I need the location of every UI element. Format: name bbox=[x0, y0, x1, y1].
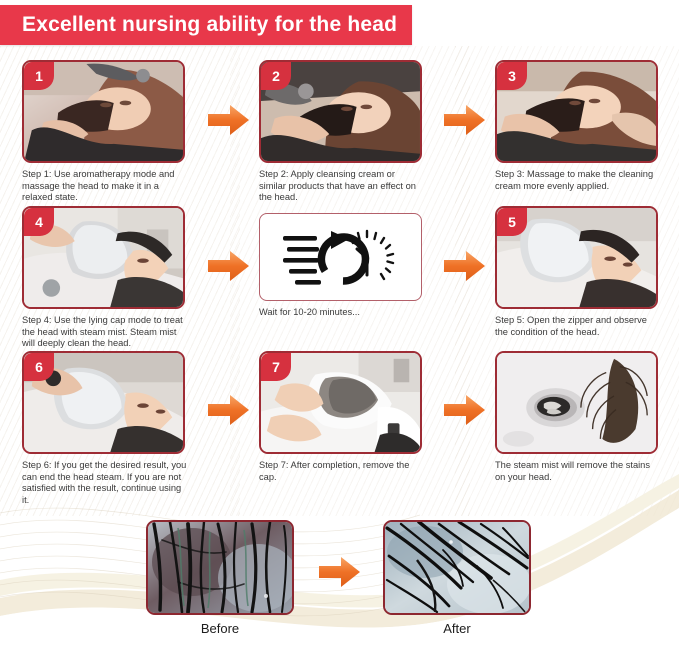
step-photo-1[interactable]: 1 bbox=[22, 60, 185, 163]
before-photo[interactable] bbox=[146, 520, 294, 615]
step-badge-5: 5 bbox=[497, 208, 527, 236]
step-caption-2: Step 2: Apply cleansing cream or similar… bbox=[259, 169, 424, 204]
result-photo[interactable] bbox=[495, 351, 658, 454]
step-caption-1: Step 1: Use aromatherapy mode and massag… bbox=[22, 169, 187, 204]
after-label: After bbox=[383, 621, 531, 636]
step-badge-2: 2 bbox=[261, 62, 291, 90]
flow-arrow-2 bbox=[442, 103, 486, 137]
step-badge-6: 6 bbox=[24, 353, 54, 381]
step-card-6: 6 Step 6: If you get the desired result,… bbox=[22, 351, 185, 506]
step-photo-4[interactable]: 4 bbox=[22, 206, 185, 309]
flow-arrow-1 bbox=[206, 103, 250, 137]
step-card-7: 7 Step 7: After completion, remove the c… bbox=[259, 351, 422, 483]
fast-clock-icon bbox=[283, 225, 399, 289]
step-photo-7[interactable]: 7 bbox=[259, 351, 422, 454]
photo-illustration-result bbox=[497, 353, 656, 453]
flow-arrow-3 bbox=[206, 249, 250, 283]
step-caption-4: Step 4: Use the lying cap mode to treat … bbox=[22, 315, 187, 350]
step-card-4: 4 Step 4: Use the lying cap mode to trea… bbox=[22, 206, 185, 350]
step-card-1: 1 Step 1: Use aromatherapy mode and mass… bbox=[22, 60, 185, 204]
timer-card: Wait for 10-20 minutes... bbox=[259, 213, 422, 319]
step-badge-3: 3 bbox=[497, 62, 527, 90]
scalp-microscope-after-illustration bbox=[385, 522, 529, 613]
scalp-microscope-before-illustration bbox=[148, 522, 292, 613]
step-caption-5: Step 5: Open the zipper and observe the … bbox=[495, 315, 660, 338]
before-label: Before bbox=[146, 621, 294, 636]
step-photo-2[interactable]: 2 bbox=[259, 60, 422, 163]
flow-arrow-4 bbox=[442, 249, 486, 283]
result-card: The steam mist will remove the stains on… bbox=[495, 351, 658, 483]
timer-box bbox=[259, 213, 422, 301]
step-badge-4: 4 bbox=[24, 208, 54, 236]
step-card-3: 3 Step 3: Massage to make the cleaning c… bbox=[495, 60, 658, 192]
before-after-arrow bbox=[317, 555, 361, 589]
step-card-5: 5 Step 5: Open the zipper and observe th… bbox=[495, 206, 658, 338]
result-caption: The steam mist will remove the stains on… bbox=[495, 460, 660, 483]
flow-arrow-5 bbox=[206, 393, 250, 427]
step-photo-3[interactable]: 3 bbox=[495, 60, 658, 163]
after-photo[interactable] bbox=[383, 520, 531, 615]
before-after-section: Before bbox=[0, 508, 679, 653]
page-title-banner: Excellent nursing ability for the head bbox=[0, 5, 412, 45]
flow-arrow-6 bbox=[442, 393, 486, 427]
page-title: Excellent nursing ability for the head bbox=[0, 13, 397, 37]
timer-caption: Wait for 10-20 minutes... bbox=[259, 307, 424, 319]
step-caption-6: Step 6: If you get the desired result, y… bbox=[22, 460, 187, 506]
step-badge-1: 1 bbox=[24, 62, 54, 90]
step-caption-7: Step 7: After completion, remove the cap… bbox=[259, 460, 424, 483]
step-card-2: 2 Step 2: Apply cleansing cream or simil… bbox=[259, 60, 422, 204]
step-caption-3: Step 3: Massage to make the cleaning cre… bbox=[495, 169, 660, 192]
step-photo-6[interactable]: 6 bbox=[22, 351, 185, 454]
step-photo-5[interactable]: 5 bbox=[495, 206, 658, 309]
step-badge-7: 7 bbox=[261, 353, 291, 381]
